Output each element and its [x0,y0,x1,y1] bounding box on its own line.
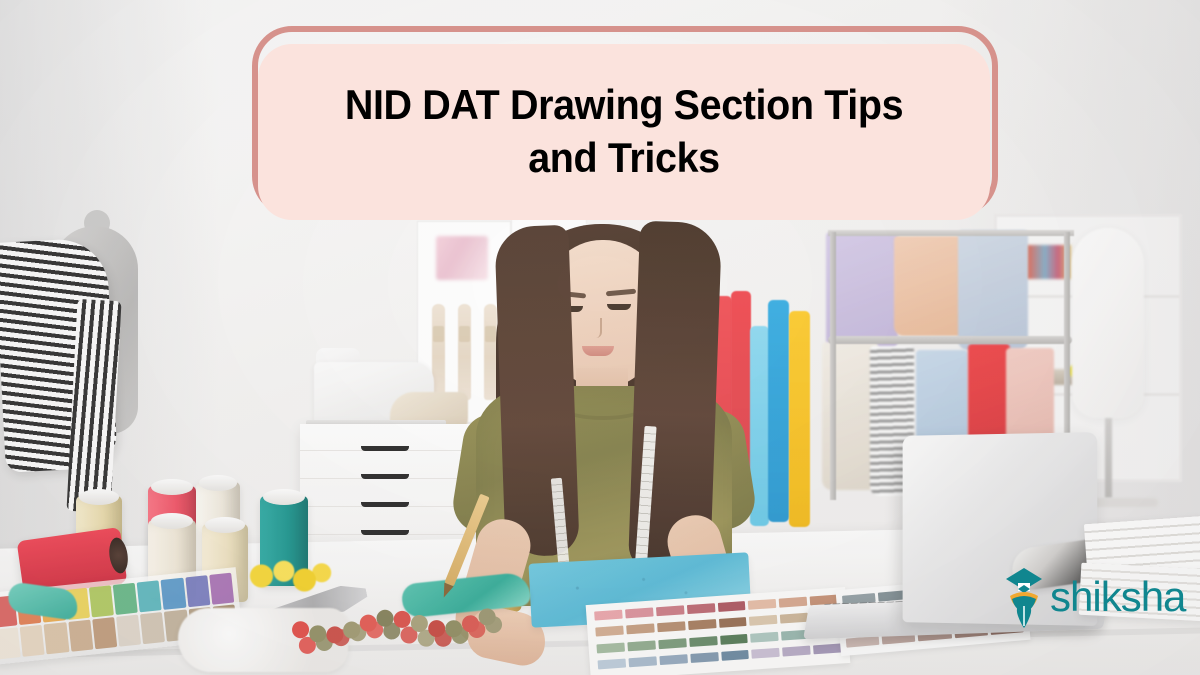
color-swatch [658,638,686,649]
thread-spool-small [209,573,234,605]
color-swatch [690,652,718,663]
color-swatch [748,599,776,610]
color-swatch [628,656,656,667]
thread-spool-small [0,627,21,659]
color-swatch [659,654,687,665]
color-swatch [718,617,746,628]
nose [590,318,602,338]
color-swatch [782,645,810,656]
color-swatch [749,615,777,626]
thread-spool-small [44,622,69,654]
color-swatch [596,642,624,653]
eye-right [607,304,631,310]
color-swatch [813,643,841,654]
color-swatch [688,619,716,630]
thread-spool-small [92,617,117,649]
rack-leg [830,232,836,500]
thread-spool-small [116,615,141,647]
color-swatch [780,613,808,624]
garment-blue [958,230,1028,350]
color-swatch [689,636,717,647]
thread-spool-small [68,620,93,652]
page-title: NID DAT Drawing Section Tips and Tricks [345,79,903,185]
hair-strand-left [494,225,579,557]
color-swatch [779,597,807,608]
fabric-roll-blue [768,300,789,522]
color-swatch [752,648,780,659]
color-swatch [595,626,623,637]
thread-spool-small [89,585,114,617]
thread-spool-small [137,580,162,612]
clothing-rack-upper-bar [828,230,1074,236]
color-swatch [656,605,684,616]
clothing-rack-bar [828,336,1072,344]
banner-image: NID DAT Drawing Section Tips and Tricks … [0,0,1200,675]
color-swatch [687,603,715,614]
color-swatch [625,607,653,618]
fabric-roll-yellow [789,311,810,527]
bead [393,610,411,628]
color-swatch [717,601,745,612]
page-title-line-2: and Tricks [528,134,720,181]
color-swatch [626,624,654,635]
color-swatch [594,610,622,621]
color-swatch [657,622,685,633]
title-card: NID DAT Drawing Section Tips and Tricks [258,44,990,220]
thread-spool-small [140,612,165,644]
bead [485,616,503,634]
color-swatch [598,658,626,669]
thread-spool-small [161,578,186,610]
color-swatch [721,650,749,661]
page-title-line-1: NID DAT Drawing Section Tips [345,81,903,128]
garment-lavender [826,232,898,350]
color-swatch [720,633,748,644]
dress-form-mannequin-right [1072,228,1144,418]
color-swatch [750,631,778,642]
shiksha-logo[interactable]: shiksha [1002,566,1185,628]
thread-spool-small [185,575,210,607]
graduation-cap-icon [1002,566,1046,628]
thread-spool-small [113,583,138,615]
mouth [582,346,614,356]
color-swatch [627,640,655,651]
shiksha-wordmark: shiksha [1050,576,1185,618]
thread-spool-small [20,625,45,657]
